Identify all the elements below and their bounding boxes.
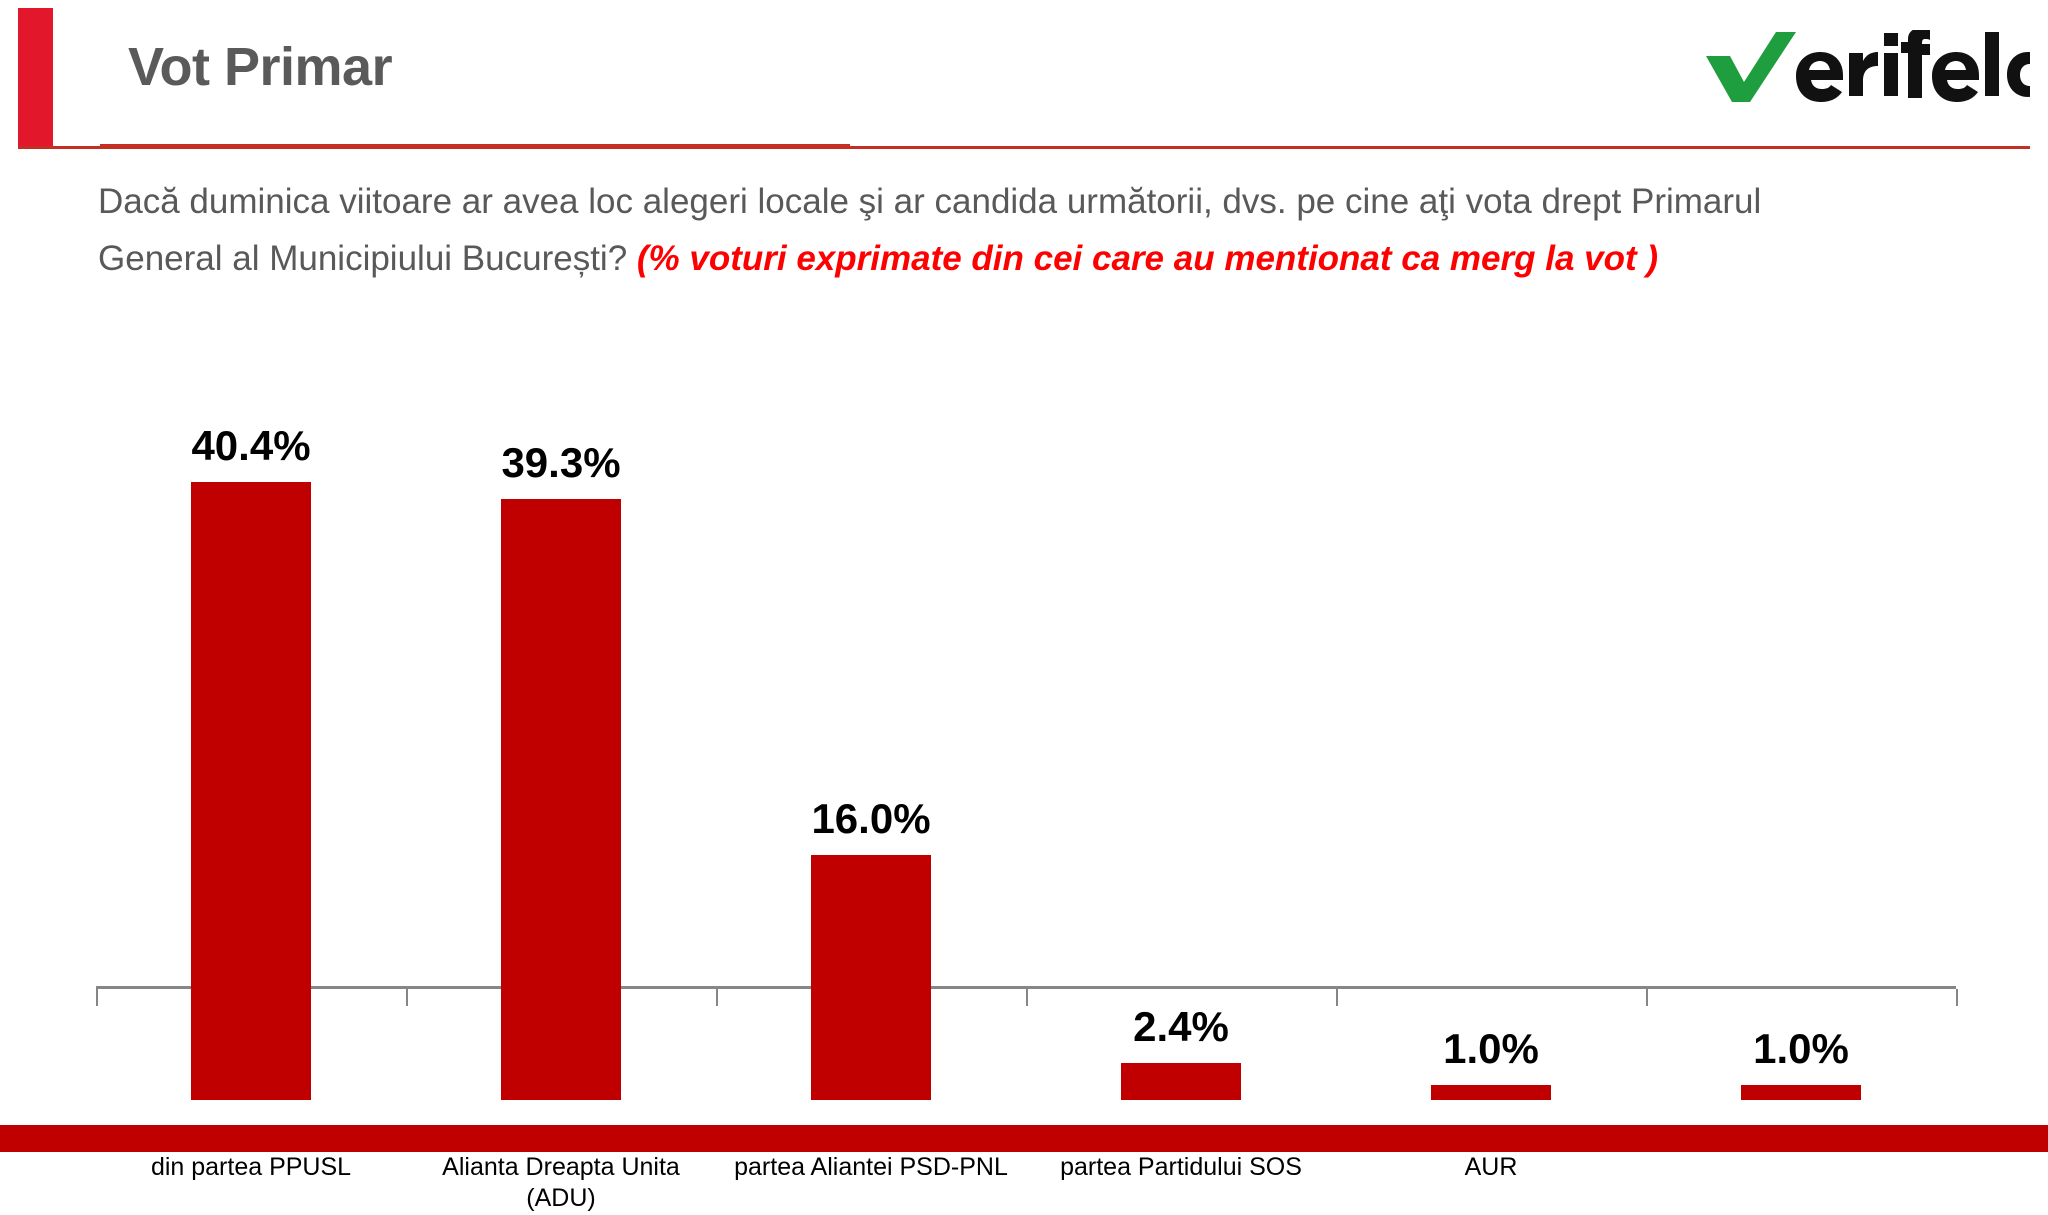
bar-group: 1.0%Mihai ENACHE, din partea AUR	[1336, 412, 1646, 1100]
bar[interactable]	[1741, 1085, 1861, 1100]
bar-group: 16.0%Sebastian Burduja,din partea Aliant…	[716, 412, 1026, 1100]
bar-value-label: 2.4%	[1133, 1003, 1229, 1051]
question-line-2-text: General al Municipiului București?	[98, 239, 627, 278]
header-divider-accent	[100, 144, 850, 149]
footer-bar	[0, 1125, 2048, 1152]
bar-chart: 40.4%Cristian Popescu Piedone, din parte…	[0, 300, 2048, 1100]
bar-value-label: 39.3%	[501, 439, 620, 487]
bar[interactable]	[501, 499, 621, 1100]
bar-value-label: 1.0%	[1443, 1025, 1539, 1073]
bar-group: 2.4%Diana SOSOACA, din partea Partidului…	[1026, 412, 1336, 1100]
verifield-logo-icon	[1700, 30, 2030, 106]
question-line-1: Dacă duminica viitoare ar avea loc alege…	[98, 174, 1978, 231]
page-title: Vot Primar	[128, 36, 392, 98]
question-note: (% voturi exprimate din cei care au ment…	[637, 239, 1658, 278]
bar-value-label: 40.4%	[191, 422, 310, 470]
bar-group: 1.0%Altul	[1646, 412, 1956, 1100]
bar-value-label: 16.0%	[811, 795, 930, 843]
bar[interactable]	[1431, 1085, 1551, 1100]
bar-value-label: 1.0%	[1753, 1025, 1849, 1073]
bar[interactable]	[191, 482, 311, 1100]
axis-tick	[1956, 989, 1958, 1006]
bar-group: 39.3%Nicusor Dan, sustinut de Alianta Dr…	[406, 412, 716, 1100]
header-accent-bar	[18, 8, 53, 148]
verifield-logo	[1700, 34, 2030, 102]
bar[interactable]	[1121, 1063, 1241, 1100]
bar-group: 40.4%Cristian Popescu Piedone, din parte…	[96, 412, 406, 1100]
question-block: Dacă duminica viitoare ar avea loc alege…	[98, 174, 1978, 287]
bar[interactable]	[811, 855, 931, 1100]
question-line-2: General al Municipiului București? (% vo…	[98, 231, 1978, 288]
